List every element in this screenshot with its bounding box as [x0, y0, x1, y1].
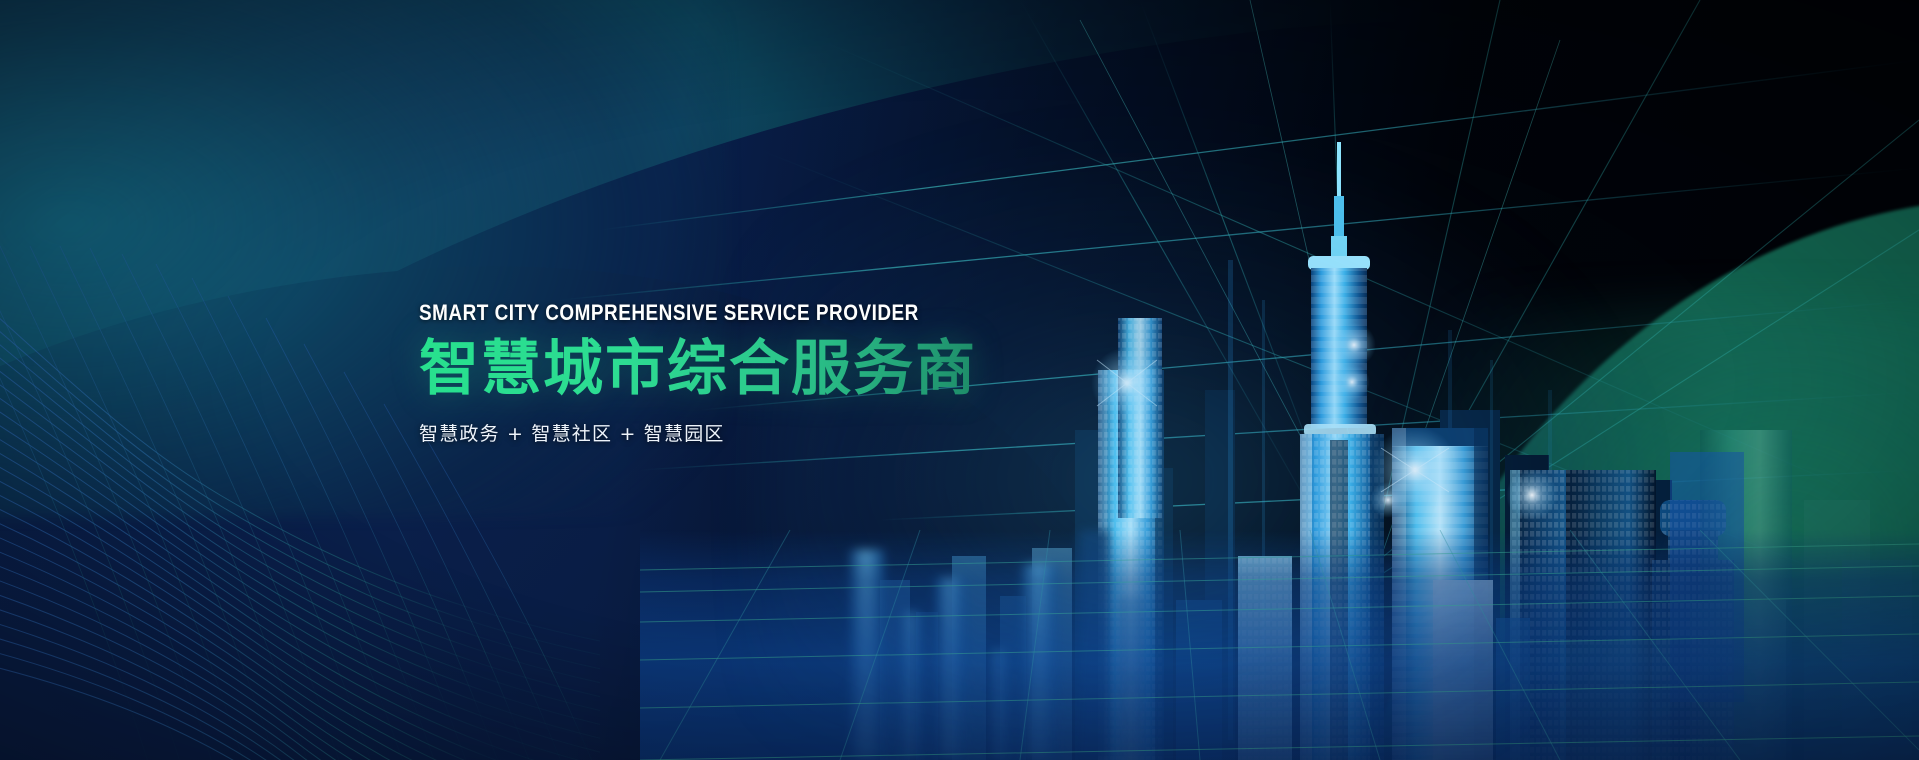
page-title: 智慧城市综合服务商	[419, 335, 1179, 405]
perspective-ground-grid	[640, 530, 1919, 760]
banner-tagline: 智慧政务 + 智慧社区 + 智慧园区	[419, 419, 1179, 446]
banner-eyebrow-english: SMART CITY COMPREHENSIVE SERVICE PROVIDE…	[419, 300, 1073, 326]
hero-copy-block: SMART CITY COMPREHENSIVE SERVICE PROVIDE…	[419, 300, 1179, 446]
hero-banner: SMART CITY COMPREHENSIVE SERVICE PROVIDE…	[0, 0, 1919, 760]
